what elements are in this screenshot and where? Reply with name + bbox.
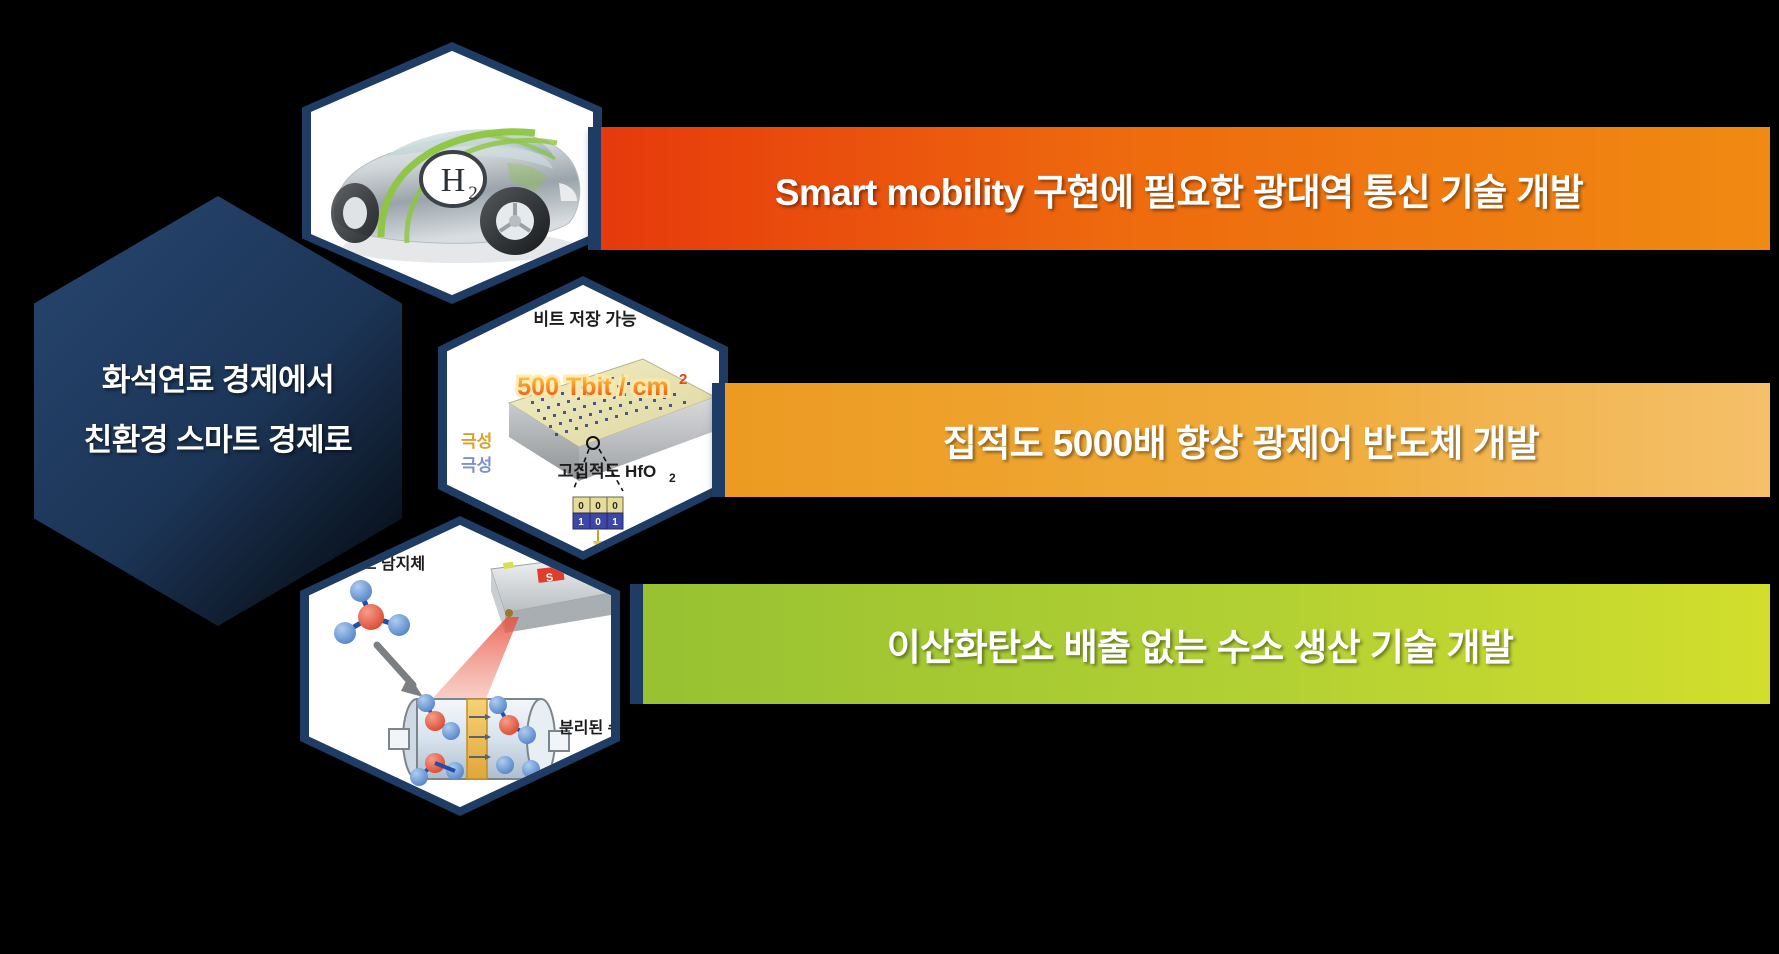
reactor-tube: [389, 694, 569, 786]
chip-polarity-label-2: 극성: [461, 456, 492, 475]
vision-line-2: 친환경 스마트 경제로: [34, 411, 402, 471]
memory-chip-illustration: 비트 저장 가능: [447, 285, 719, 551]
hex-memory-chip-figure: 비트 저장 가능: [447, 285, 719, 551]
svg-text:0: 0: [578, 501, 584, 512]
banner-mobility-cap: [588, 127, 601, 250]
chip-headline: 500 Tbit / cm: [517, 373, 668, 401]
banner-mobility[interactable]: Smart mobility 구현에 필요한 광대역 통신 기술 개발: [588, 127, 1770, 250]
chip-substrate-label: 고집적도 HfO: [558, 462, 656, 481]
svg-text:1: 1: [612, 517, 618, 528]
svg-text:2: 2: [468, 183, 478, 204]
product-label: 분리된 수소: [559, 718, 611, 737]
hex-memory-chip: 비트 저장 가능: [438, 276, 728, 560]
svg-text:S: S: [545, 572, 554, 585]
svg-text:H: H: [441, 162, 466, 199]
vision-line-1: 화석연료 경제에서: [34, 351, 402, 411]
carrier-label: 수소 담지체: [347, 555, 425, 573]
vision-hexagon: 화석연료 경제에서 친환경 스마트 경제로: [34, 196, 402, 626]
separated-hydrogen-molecule: [557, 754, 611, 781]
chip-substrate-subscript: 2: [669, 471, 676, 485]
hex-hydrogen-separation: 수소 담지체: [300, 516, 620, 816]
vision-hexagon-text: 화석연료 경제에서 친환경 스마트 경제로: [34, 351, 402, 472]
svg-text:0: 0: [595, 501, 601, 512]
chip-bit-grid: 0 0 0 1 0 1: [573, 497, 623, 529]
banner-mobility-text: Smart mobility 구현에 필요한 광대역 통신 기술 개발: [588, 162, 1770, 216]
svg-text:1: 1: [578, 517, 584, 528]
banner-hydrogen-cap: [630, 584, 643, 704]
hex-hydrogen-car: H 2: [302, 42, 602, 304]
hex-hydrogen-separation-figure: 수소 담지체: [309, 525, 611, 807]
slide-canvas: 화석연료 경제에서 친환경 스마트 경제로: [0, 0, 1779, 954]
banner-semiconductor-text: 집적도 5000배 향상 광제어 반도체 개발: [712, 413, 1770, 467]
chip-headline-superscript: 2: [679, 371, 687, 388]
banner-semiconductor[interactable]: 집적도 5000배 향상 광제어 반도체 개발: [712, 383, 1770, 497]
chip-polarity-label-1: 극성: [461, 432, 492, 451]
hex-hydrogen-car-photo: H 2: [311, 51, 593, 295]
chip-top-caption: 비트 저장 가능: [533, 310, 637, 329]
svg-text:0: 0: [595, 517, 601, 528]
hydrogen-separation-illustration: 수소 담지체: [309, 525, 611, 807]
banner-hydrogen[interactable]: 이산화탄소 배출 없는 수소 생산 기술 개발: [630, 584, 1770, 704]
banner-semiconductor-cap: [712, 383, 725, 497]
hydrogen-car-illustration: H 2: [311, 51, 593, 295]
banner-hydrogen-text: 이산화탄소 배출 없는 수소 생산 기술 개발: [630, 617, 1770, 671]
svg-text:0: 0: [612, 501, 618, 512]
